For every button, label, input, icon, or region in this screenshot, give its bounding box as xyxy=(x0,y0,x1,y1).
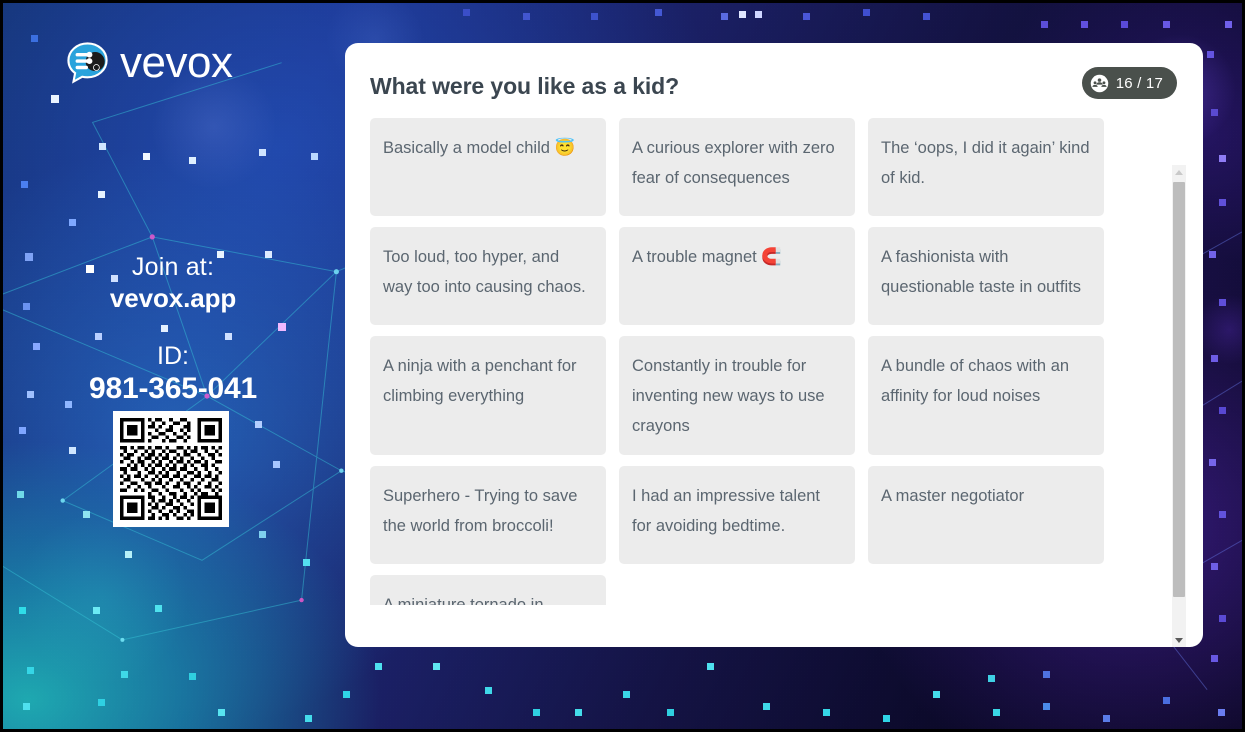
response-text: Constantly in trouble for inventing new … xyxy=(632,357,825,435)
vevox-wordmark: vevox xyxy=(120,41,232,85)
response-text: A master negotiator xyxy=(881,487,1024,505)
response-card[interactable]: A miniature tornado in xyxy=(370,575,606,605)
response-card[interactable]: Basically a model child 😇 xyxy=(370,118,606,216)
response-card[interactable]: Too loud, too hyper, and way too into ca… xyxy=(370,227,606,325)
response-text: The ‘oops, I did it again’ kind of kid. xyxy=(881,139,1090,187)
response-text: Superhero - Trying to save the world fro… xyxy=(383,487,577,535)
response-card[interactable]: A master negotiator xyxy=(868,466,1104,564)
qr-code-icon xyxy=(120,418,222,520)
scroll-thumb[interactable] xyxy=(1173,182,1185,597)
response-card[interactable]: Constantly in trouble for inventing new … xyxy=(619,336,855,455)
responses-grid: Basically a model child 😇 A curious expl… xyxy=(370,118,1160,605)
session-id-label: ID: xyxy=(3,342,343,372)
scroll-down-button[interactable] xyxy=(1172,633,1186,647)
responses-scrollbar[interactable] xyxy=(1172,165,1186,647)
response-text: A fashionista with questionable taste in… xyxy=(881,248,1081,296)
response-card[interactable]: A fashionista with questionable taste in… xyxy=(868,227,1104,325)
response-text: A curious explorer with zero fear of con… xyxy=(632,139,835,187)
vevox-logo: vevox xyxy=(67,41,232,85)
participants-count: 16 / 17 xyxy=(1116,75,1163,92)
response-text: A bundle of chaos with an affinity for l… xyxy=(881,357,1069,405)
join-at-label: Join at: xyxy=(3,253,343,283)
people-group-icon xyxy=(1090,74,1109,93)
response-card[interactable]: Superhero - Trying to save the world fro… xyxy=(370,466,606,564)
panel-header: What were you like as a kid? 16 / 17 xyxy=(345,43,1203,118)
response-text: A miniature tornado in xyxy=(383,596,544,605)
vevox-presentation-screen: vevox Join at: vevox.app ID: 981-365-041 xyxy=(0,0,1245,732)
participants-badge: 16 / 17 xyxy=(1082,67,1177,99)
response-card[interactable]: The ‘oops, I did it again’ kind of kid. xyxy=(868,118,1104,216)
response-text: Basically a model child xyxy=(383,139,555,157)
response-card[interactable]: A trouble magnet 🧲 xyxy=(619,227,855,325)
response-card[interactable]: A ninja with a penchant for climbing eve… xyxy=(370,336,606,455)
response-text: A trouble magnet xyxy=(632,248,761,266)
join-sidebar: vevox Join at: vevox.app ID: 981-365-041 xyxy=(3,3,343,729)
responses-container: Basically a model child 😇 A curious expl… xyxy=(370,118,1160,605)
qr-code xyxy=(113,411,229,527)
response-text: A ninja with a penchant for climbing eve… xyxy=(383,357,577,405)
results-panel: What were you like as a kid? 16 / 17 Bas… xyxy=(345,43,1203,647)
response-text: I had an impressive talent for avoiding … xyxy=(632,487,820,535)
magnet-emoji: 🧲 xyxy=(761,248,782,266)
responses-scroll-viewport[interactable]: Basically a model child 😇 A curious expl… xyxy=(370,118,1178,605)
scroll-up-button[interactable] xyxy=(1172,165,1186,179)
question-title: What were you like as a kid? xyxy=(370,73,1175,100)
triangle-up-icon xyxy=(1175,170,1183,175)
join-instructions: Join at: vevox.app ID: 981-365-041 xyxy=(3,253,343,407)
response-card[interactable]: A bundle of chaos with an affinity for l… xyxy=(868,336,1104,455)
response-card[interactable]: I had an impressive talent for avoiding … xyxy=(619,466,855,564)
smiling-face-with-halo-emoji: 😇 xyxy=(555,139,576,157)
response-text: Too loud, too hyper, and way too into ca… xyxy=(383,248,586,296)
triangle-down-icon xyxy=(1175,638,1183,643)
response-card[interactable]: A curious explorer with zero fear of con… xyxy=(619,118,855,216)
session-id-value: 981-365-041 xyxy=(3,371,343,407)
join-url: vevox.app xyxy=(3,283,343,314)
vevox-speech-bubble-logo-icon xyxy=(67,42,109,84)
